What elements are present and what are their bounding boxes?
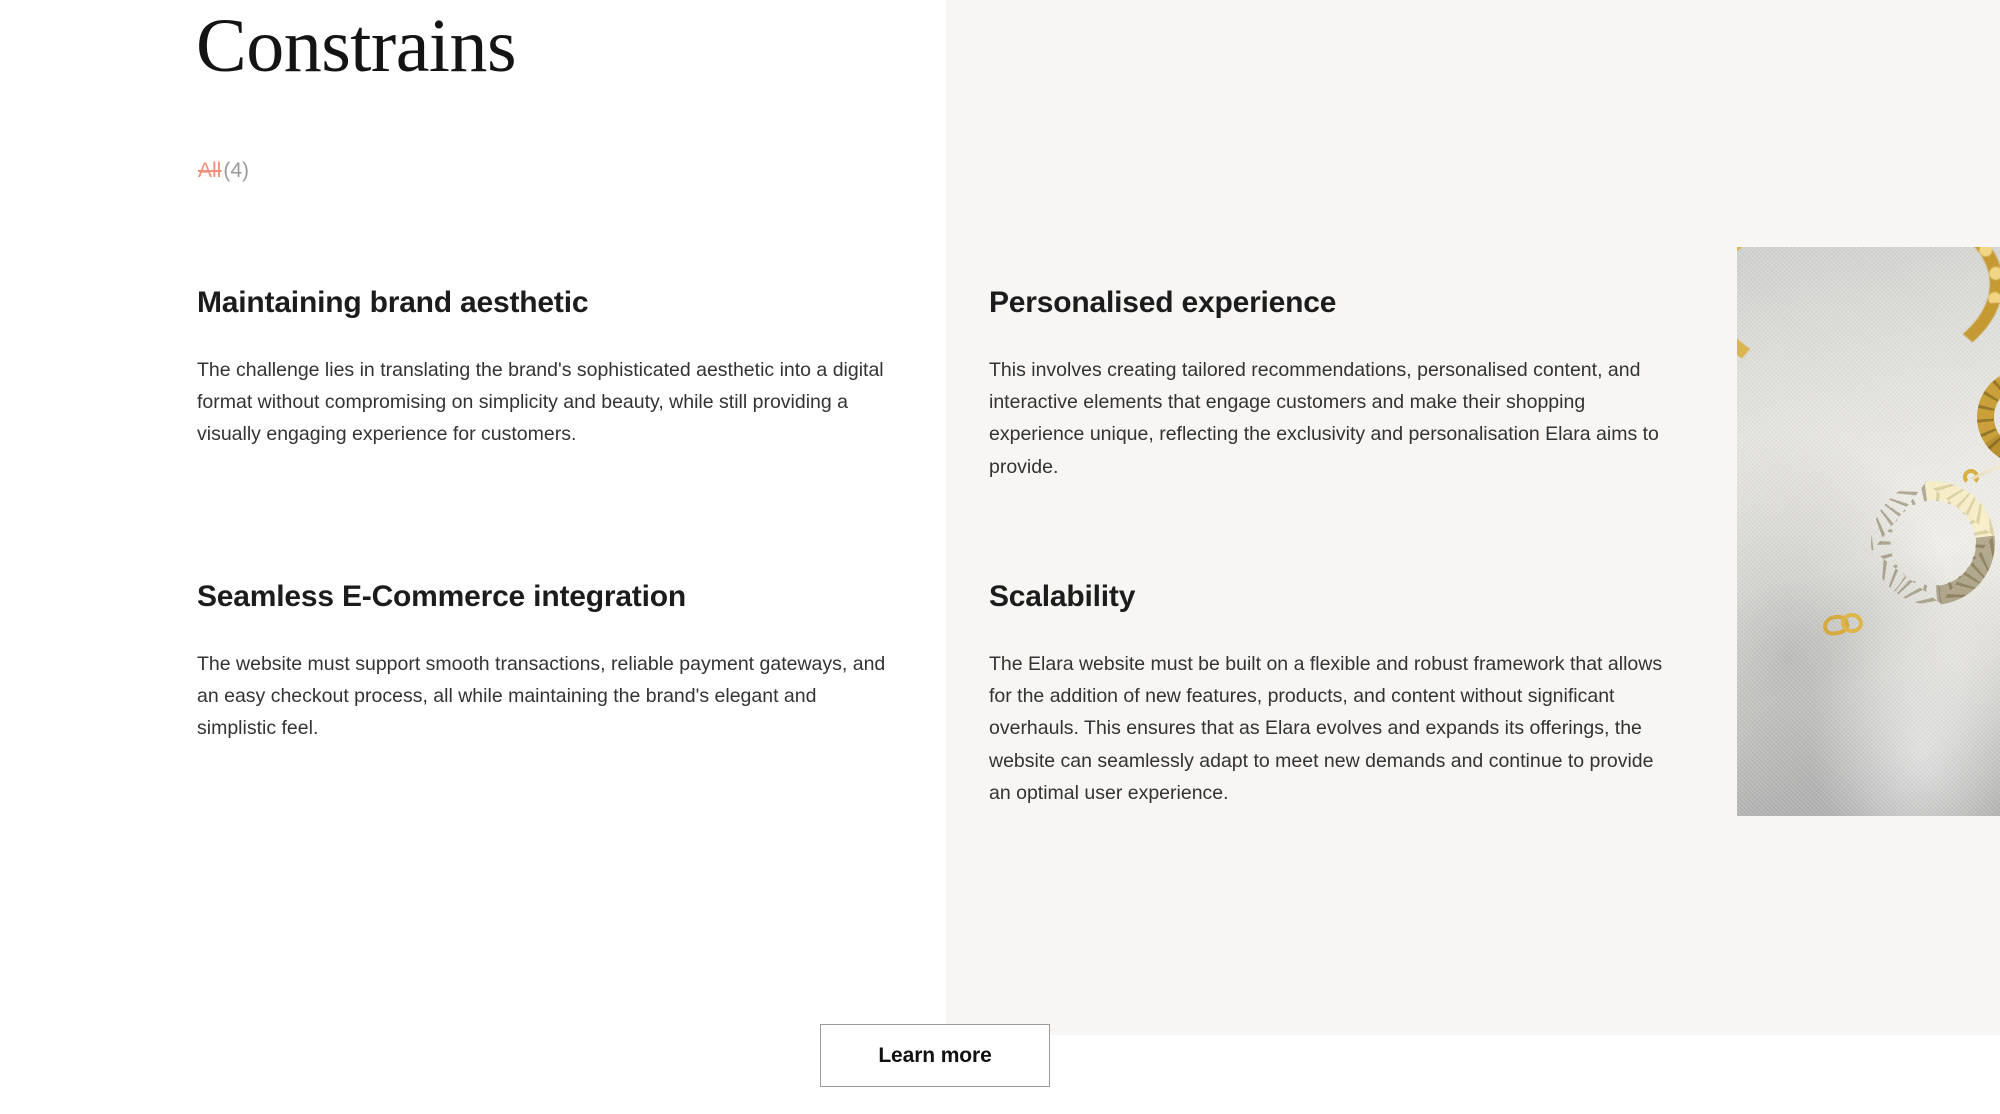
filter-chip-all[interactable]: All: [197, 160, 222, 181]
constraint-body: The Elara website must be built on a fle…: [989, 648, 1679, 810]
constraint-body: The website must support smooth transact…: [197, 648, 887, 745]
product-photo: [1737, 247, 2000, 816]
constraints-column-right: Personalised experience This involves cr…: [989, 285, 1689, 809]
filter-count: (4): [223, 160, 249, 181]
constraints-column-left: Maintaining brand aesthetic The challeng…: [197, 285, 897, 745]
constraint-body: The challenge lies in translating the br…: [197, 354, 887, 451]
constraints-section: Constrains All (4) Maintaining brand aes…: [0, 0, 2000, 1114]
constraint-title: Personalised experience: [989, 285, 1689, 322]
constraint-title: Seamless E-Commerce integration: [197, 579, 897, 616]
constraint-body: This involves creating tailored recommen…: [989, 354, 1679, 483]
constraint-card: Seamless E-Commerce integration The webs…: [197, 579, 897, 745]
constraint-card: Maintaining brand aesthetic The challeng…: [197, 285, 897, 565]
page-title: Constrains: [196, 6, 516, 87]
constraint-title: Scalability: [989, 579, 1689, 616]
constraint-card: Personalised experience This involves cr…: [989, 285, 1689, 565]
learn-more-button[interactable]: Learn more: [820, 1024, 1050, 1087]
filter-row: All (4): [197, 160, 249, 181]
constraint-title: Maintaining brand aesthetic: [197, 285, 897, 322]
constraint-card: Scalability The Elara website must be bu…: [989, 579, 1689, 809]
